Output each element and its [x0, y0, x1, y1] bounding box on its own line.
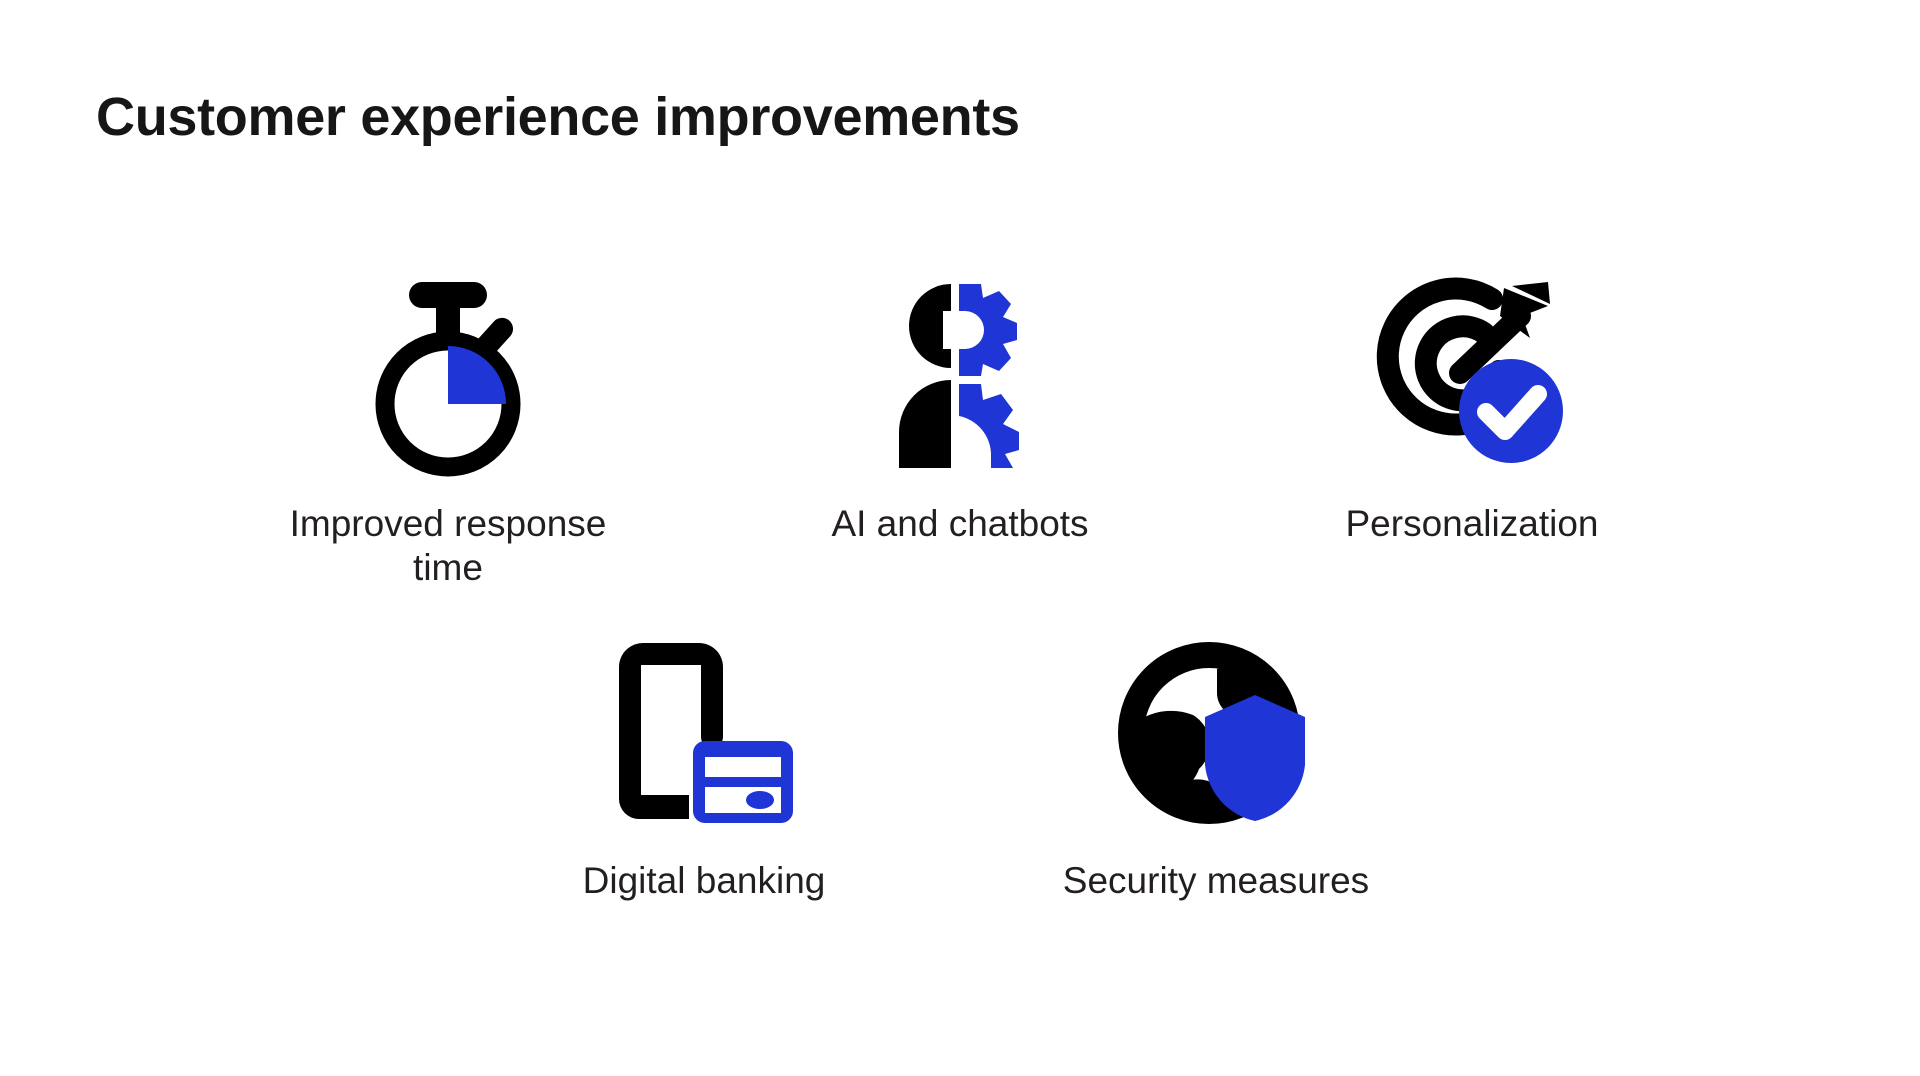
- page-title: Customer experience improvements: [96, 86, 1020, 148]
- globe-shield-icon: [1101, 633, 1331, 833]
- feature-label: Personalization: [1346, 502, 1599, 546]
- feature-item-ai-and-chatbots[interactable]: AI and chatbots: [770, 276, 1150, 546]
- target-arrow-check-icon: [1357, 276, 1587, 476]
- feature-grid: Improved response time: [0, 276, 1920, 903]
- feature-row-bottom: Digital banking: [0, 633, 1920, 903]
- feature-item-security-measures[interactable]: Security measures: [1026, 633, 1406, 903]
- feature-label: Security measures: [1063, 859, 1369, 903]
- feature-label: Digital banking: [583, 859, 826, 903]
- feature-row-top: Improved response time: [0, 276, 1920, 591]
- feature-item-digital-banking[interactable]: Digital banking: [514, 633, 894, 903]
- feature-label: Improved response time: [261, 502, 636, 591]
- stopwatch-icon: [333, 276, 563, 476]
- slide-canvas: Customer experience improvements: [0, 0, 1920, 1076]
- feature-label: AI and chatbots: [831, 502, 1088, 546]
- phone-credit-card-icon: [589, 633, 819, 833]
- ai-person-gear-icon: [845, 276, 1075, 476]
- feature-item-improved-response-time[interactable]: Improved response time: [258, 276, 638, 591]
- feature-item-personalization[interactable]: Personalization: [1282, 276, 1662, 546]
